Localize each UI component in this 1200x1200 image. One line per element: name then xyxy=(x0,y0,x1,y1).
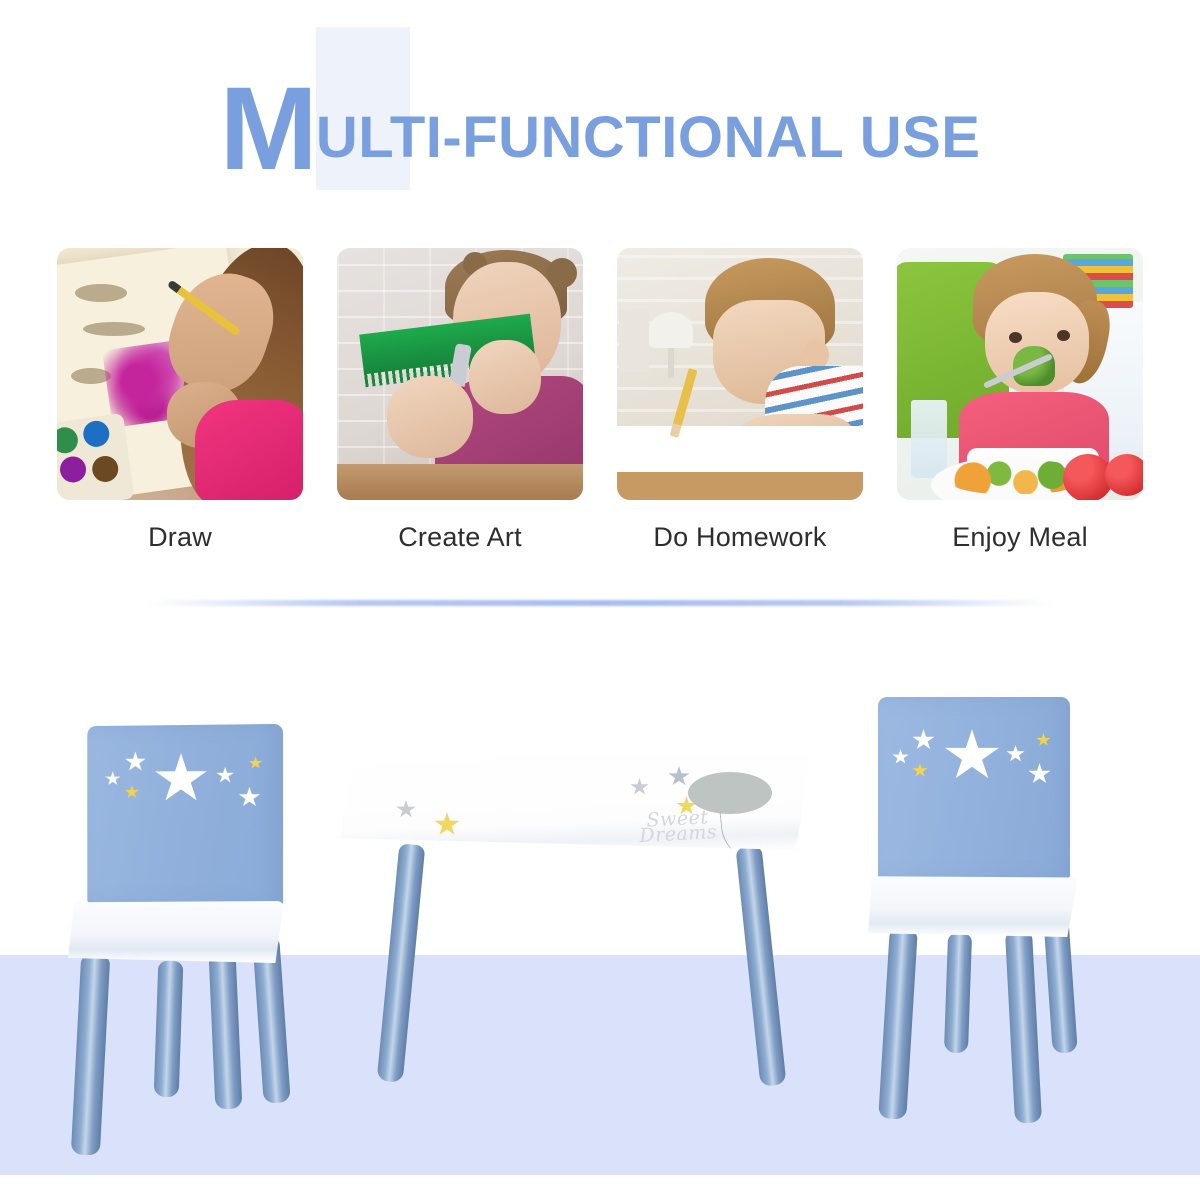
sketch-mark xyxy=(83,322,145,336)
feature-card-draw[interactable]: Draw xyxy=(57,248,303,558)
child-drawing-photo xyxy=(57,248,303,500)
child-eating-photo xyxy=(897,248,1143,500)
title-text: ULTI-FUNCTIONAL USE xyxy=(316,109,981,167)
star-decal xyxy=(396,800,416,819)
star-decal-yellow xyxy=(1036,733,1051,747)
chair-leg xyxy=(878,928,918,1119)
kids-table[interactable]: Sweet Dreams xyxy=(340,750,820,1180)
star-decal xyxy=(668,766,690,787)
shelf xyxy=(619,310,649,372)
star-decal-large xyxy=(154,753,208,805)
table-top: Sweet Dreams xyxy=(340,750,810,850)
chair-seat xyxy=(68,901,284,963)
paint-palette xyxy=(57,413,135,500)
wooden-table-edge xyxy=(337,464,583,500)
feature-label: Create Art xyxy=(337,522,583,553)
star-decal xyxy=(105,771,121,786)
chair-leg xyxy=(71,954,110,1155)
paint-pan xyxy=(57,426,80,455)
page-header: MULTI-FUNCTIONAL USE xyxy=(0,0,1200,215)
table-leg xyxy=(377,843,426,1082)
child-hand xyxy=(469,340,541,414)
star-decal xyxy=(216,767,234,784)
feature-label: Do Homework xyxy=(617,522,863,553)
sketch-mark xyxy=(75,284,127,302)
star-decal xyxy=(912,729,935,751)
hair-bun xyxy=(547,258,577,288)
star-decal-yellow xyxy=(125,785,140,799)
title-dropcap: M xyxy=(220,70,316,188)
desk-surface xyxy=(617,426,863,500)
star-decal xyxy=(630,778,649,796)
feature-card-create-art[interactable]: Create Art xyxy=(337,248,583,558)
feature-card-do-homework[interactable]: Do Homework xyxy=(617,248,863,558)
page-title: MULTI-FUNCTIONAL USE xyxy=(0,58,1200,176)
chair-backrest xyxy=(87,724,283,906)
chair-leg xyxy=(1005,930,1042,1123)
lamp-stem xyxy=(668,348,674,378)
lamp xyxy=(649,312,693,348)
star-decal-yellow xyxy=(912,763,928,778)
feature-card-list: Draw Create Art xyxy=(57,248,1143,558)
child-eye xyxy=(1009,332,1022,343)
mixed-vegetables xyxy=(949,460,1081,494)
chair-leg xyxy=(944,933,972,1054)
kids-chair-left[interactable] xyxy=(60,725,300,1195)
script-text-decal: Sweet Dreams xyxy=(617,809,739,849)
chair-seat xyxy=(868,875,1080,937)
table-leg xyxy=(736,845,787,1086)
child-shirt xyxy=(195,400,303,500)
water-glass xyxy=(911,400,947,478)
kids-chair-right[interactable] xyxy=(862,697,1094,1177)
feature-card-enjoy-meal[interactable]: Enjoy Meal xyxy=(897,248,1143,558)
star-decal xyxy=(1006,745,1025,763)
chair-leg xyxy=(209,952,243,1109)
feature-label: Enjoy Meal xyxy=(897,522,1143,553)
chair-leg xyxy=(154,961,184,1098)
star-decal xyxy=(1028,763,1051,785)
section-divider xyxy=(150,600,1050,606)
star-decal-yellow xyxy=(248,756,262,769)
child-eye xyxy=(1057,330,1070,341)
star-decal xyxy=(238,787,260,808)
star-decal-yellow xyxy=(434,812,460,837)
paint-pan xyxy=(58,455,87,484)
child-cutting-paper-photo xyxy=(337,248,583,500)
product-scene: Sweet Dreams xyxy=(0,655,1200,1200)
star-decal-large xyxy=(944,729,1000,783)
paint-pan xyxy=(82,419,111,448)
feature-label: Draw xyxy=(57,522,303,553)
star-decal xyxy=(892,749,909,765)
child-hand xyxy=(387,376,473,458)
tomato xyxy=(1105,454,1143,496)
paint-pan xyxy=(91,454,120,483)
child-writing-photo xyxy=(617,248,863,500)
chair-backrest xyxy=(878,697,1070,879)
star-decal xyxy=(125,751,147,772)
